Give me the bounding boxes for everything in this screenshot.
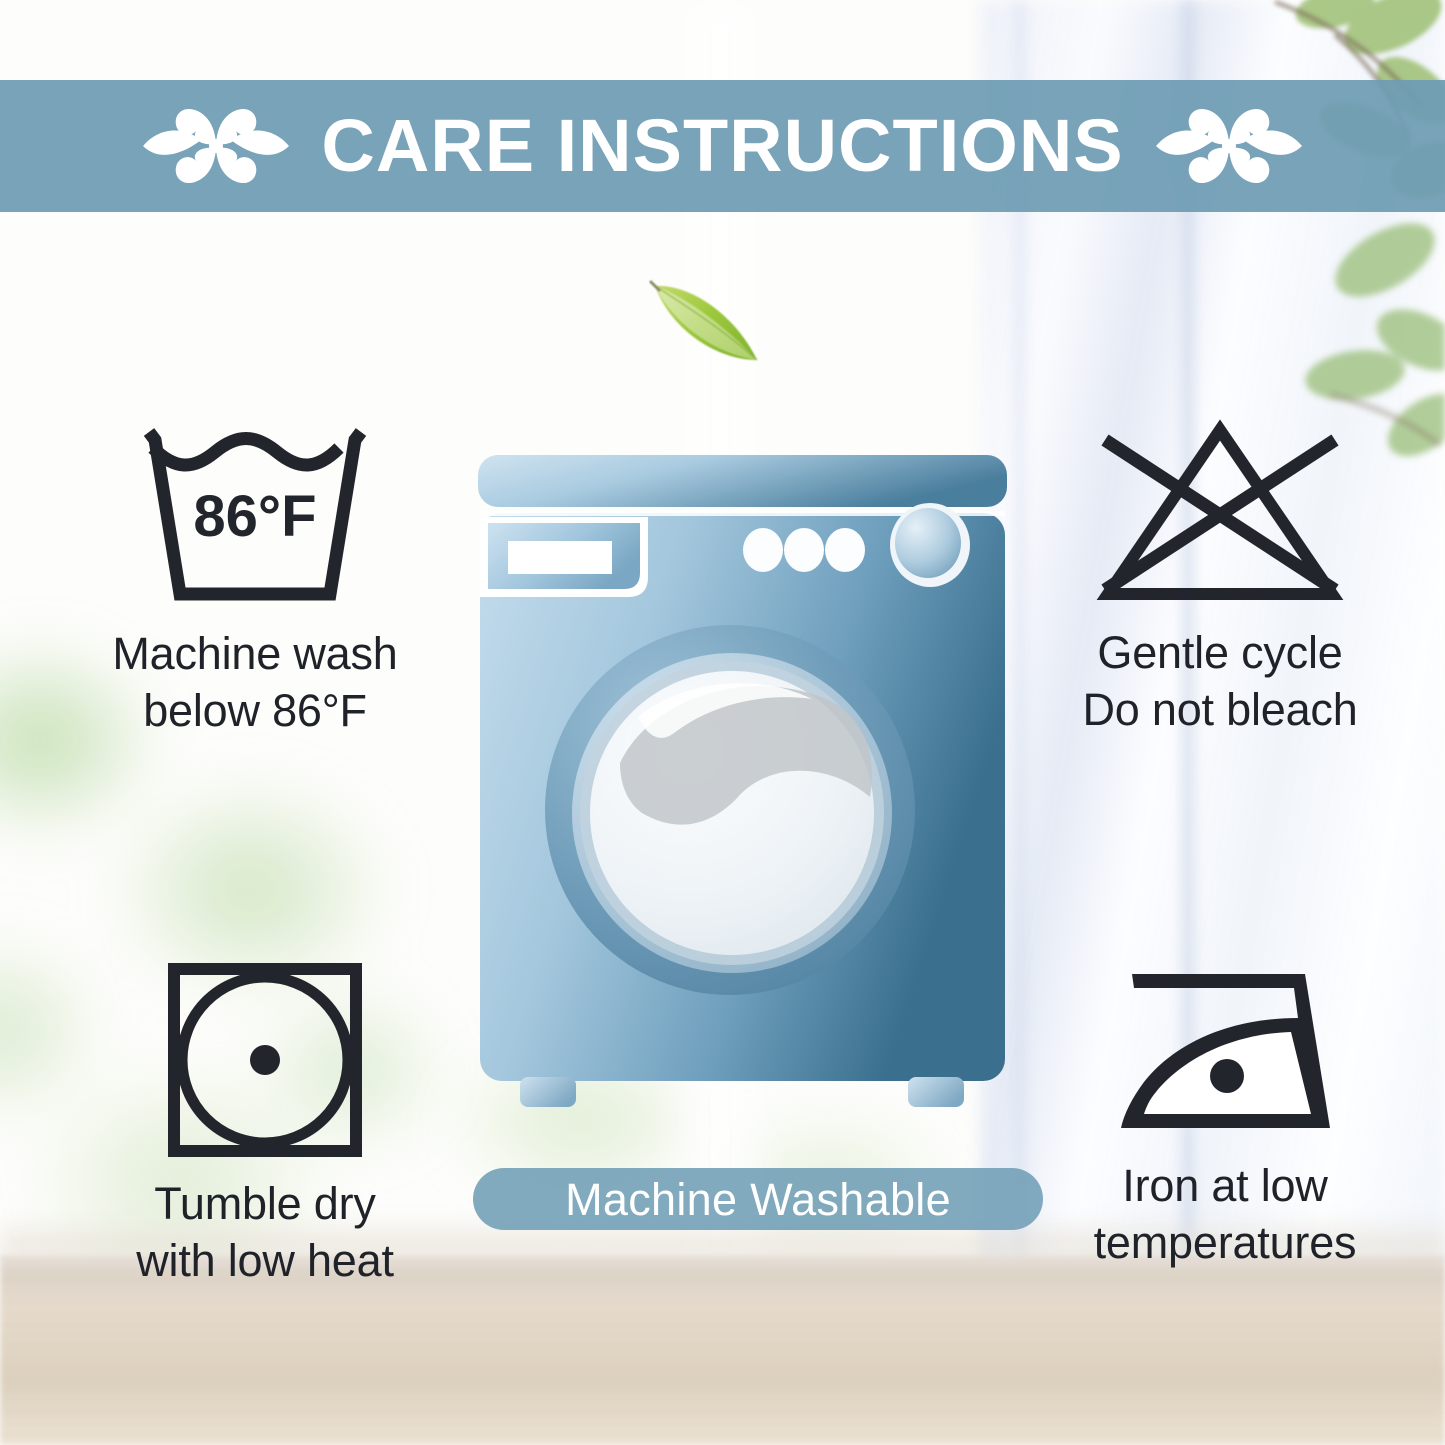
- care-symbol-machine-wash: 86°F Machine wash below 86°F: [40, 418, 470, 739]
- triangle-crossed-do-not-bleach-icon: [1095, 418, 1345, 603]
- page-title: CARE INSTRUCTIONS: [321, 109, 1123, 183]
- care-label-tumble-dry: Tumble dry with low heat: [136, 1176, 394, 1289]
- infographic-canvas: CARE INSTRUCTIONS: [0, 0, 1445, 1445]
- care-symbol-iron-low: Iron at low temperatures: [1020, 960, 1430, 1271]
- fleur-de-lis-right-icon: [1154, 96, 1304, 196]
- care-label-iron-low: Iron at low temperatures: [1094, 1158, 1357, 1271]
- control-knob[interactable]: [890, 503, 970, 587]
- control-button-2[interactable]: [784, 528, 824, 572]
- washing-machine-illustration: [470, 445, 1015, 1135]
- fleur-de-lis-left-icon: [141, 96, 291, 196]
- green-leaf-icon: [645, 268, 775, 378]
- washer-foot-left: [520, 1077, 576, 1107]
- washer-control-buttons[interactable]: [743, 528, 865, 572]
- machine-washable-badge: Machine Washable: [473, 1168, 1043, 1230]
- tumble-dry-square-circle-one-dot-icon: [165, 960, 365, 1160]
- care-label-machine-wash: Machine wash below 86°F: [112, 626, 397, 739]
- drawer-slot: [508, 541, 612, 574]
- machine-washable-badge-label: Machine Washable: [565, 1177, 951, 1222]
- wash-temperature-value: 86°F: [193, 484, 316, 549]
- wash-tub-icon: 86°F: [135, 418, 375, 608]
- control-button-1[interactable]: [743, 528, 783, 572]
- washer-door-window[interactable]: [545, 625, 915, 995]
- care-symbol-do-not-bleach: Gentle cycle Do not bleach: [1010, 418, 1430, 738]
- care-label-do-not-bleach: Gentle cycle Do not bleach: [1082, 625, 1357, 738]
- washer-foot-right: [908, 1077, 964, 1107]
- washer-top-lid: [478, 455, 1007, 507]
- control-button-3[interactable]: [825, 528, 865, 572]
- care-symbol-tumble-dry: Tumble dry with low heat: [55, 960, 475, 1289]
- detergent-drawer: [480, 517, 648, 597]
- iron-one-dot-icon: [1108, 960, 1343, 1140]
- header-banner: CARE INSTRUCTIONS: [0, 80, 1445, 212]
